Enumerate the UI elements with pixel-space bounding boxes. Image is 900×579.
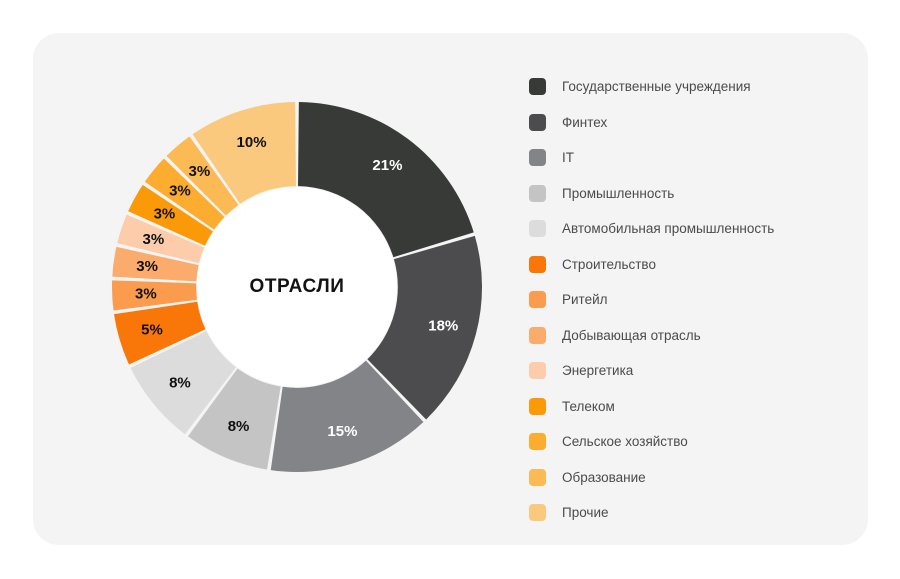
donut-slice-value-label: 3% [135, 285, 157, 302]
donut-slice-value-label: 5% [141, 322, 163, 339]
legend-color-swatch-icon [529, 504, 546, 521]
legend-item-label: Образование [562, 470, 646, 485]
donut-slice-value-label: 8% [169, 374, 191, 391]
legend-item[interactable]: Государственные учреждения [529, 69, 849, 105]
legend-color-swatch-icon [529, 185, 546, 202]
donut-slice-value-label: 21% [372, 157, 402, 174]
donut-hole [197, 187, 397, 387]
donut-slice-value-label: 18% [428, 317, 458, 334]
legend-item-label: Ритейл [562, 292, 608, 307]
legend-color-swatch-icon [529, 398, 546, 415]
legend-item[interactable]: Прочие [529, 495, 849, 531]
donut-slice-value-label: 3% [188, 163, 210, 180]
chart-legend: Государственные учрежденияФинтехITПромыш… [529, 69, 849, 531]
legend-item[interactable]: Сельское хозяйство [529, 424, 849, 460]
legend-item[interactable]: Автомобильная промышленность [529, 211, 849, 247]
legend-item-label: Строительство [562, 257, 656, 272]
legend-color-swatch-icon [529, 291, 546, 308]
legend-color-swatch-icon [529, 114, 546, 131]
donut-slice-value-label: 3% [169, 183, 191, 200]
legend-item-label: Финтех [562, 115, 607, 130]
legend-color-swatch-icon [529, 433, 546, 450]
legend-item[interactable]: Образование [529, 460, 849, 496]
legend-item-label: Добывающая отрасль [562, 328, 701, 343]
legend-item-label: Сельское хозяйство [562, 434, 688, 449]
donut-slice-value-label: 3% [136, 258, 158, 275]
legend-color-swatch-icon [529, 220, 546, 237]
legend-item-label: Промышленность [562, 186, 674, 201]
legend-item[interactable]: Финтех [529, 105, 849, 141]
legend-item-label: Автомобильная промышленность [562, 221, 774, 236]
donut-slice-value-label: 8% [228, 418, 250, 435]
legend-item-label: Прочие [562, 505, 609, 520]
legend-color-swatch-icon [529, 362, 546, 379]
legend-item[interactable]: Добывающая отрасль [529, 318, 849, 354]
legend-color-swatch-icon [529, 78, 546, 95]
legend-color-swatch-icon [529, 149, 546, 166]
donut-chart: 21%18%15%8%8%5%3%3%3%3%3%3%10% ОТРАСЛИ [79, 69, 515, 505]
legend-color-swatch-icon [529, 256, 546, 273]
donut-slice-value-label: 3% [143, 231, 165, 248]
donut-slice-value-label: 15% [327, 423, 357, 440]
legend-item[interactable]: Энергетика [529, 353, 849, 389]
legend-item[interactable]: Ритейл [529, 282, 849, 318]
legend-item-label: Государственные учреждения [562, 79, 751, 94]
legend-color-swatch-icon [529, 327, 546, 344]
legend-item[interactable]: IT [529, 140, 849, 176]
donut-slice-value-label: 10% [237, 134, 267, 151]
legend-item[interactable]: Телеком [529, 389, 849, 425]
legend-color-swatch-icon [529, 469, 546, 486]
legend-item[interactable]: Промышленность [529, 176, 849, 212]
donut-chart-svg: 21%18%15%8%8%5%3%3%3%3%3%3%10% [79, 69, 515, 505]
legend-item[interactable]: Строительство [529, 247, 849, 283]
legend-item-label: Энергетика [562, 363, 633, 378]
donut-slice-value-label: 3% [154, 206, 176, 223]
legend-item-label: Телеком [562, 399, 615, 414]
legend-item-label: IT [562, 150, 574, 165]
